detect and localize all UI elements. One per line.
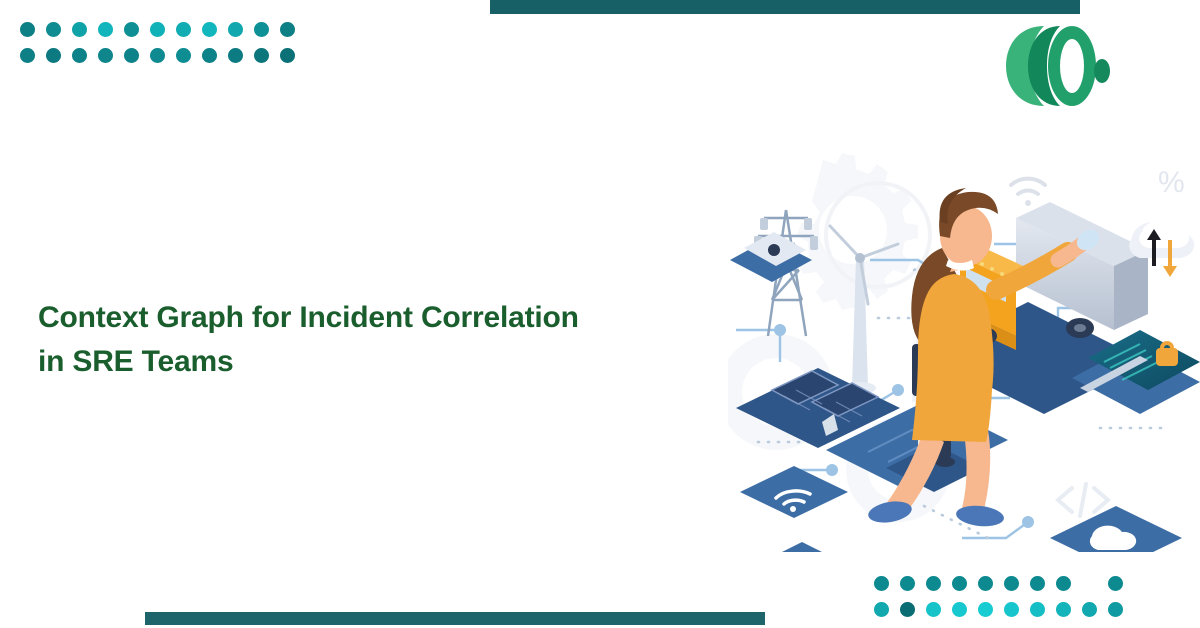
title-line-1: Context Graph for Incident Correlation — [38, 301, 579, 334]
page-title-text: Context Graph for Incident Correlation i… — [38, 296, 688, 383]
top-accent-bar — [490, 0, 1080, 14]
bottom-right-dot-1-8 — [1082, 602, 1097, 617]
top-left-dot-1-7 — [202, 48, 217, 63]
bottom-right-dot-1-4 — [978, 602, 993, 617]
wifi-signal-icon — [1011, 179, 1045, 206]
bottom-accent-bar — [145, 612, 765, 625]
bottom-right-dot-1-1 — [900, 602, 915, 617]
bottom-right-dot-0-8 — [1082, 576, 1097, 591]
bottom-right-dot-0-0 — [874, 576, 889, 591]
bottom-right-dot-1-3 — [952, 602, 967, 617]
bottom-right-dot-1-5 — [1004, 602, 1019, 617]
top-left-dot-0-5 — [150, 22, 165, 37]
code-brackets-icon — [1058, 484, 1108, 516]
bottom-right-dot-0-3 — [952, 576, 967, 591]
top-left-dot-0-2 — [72, 22, 87, 37]
bottom-right-dot-1-2 — [926, 602, 941, 617]
top-left-dot-0-4 — [124, 22, 139, 37]
device-tile-top-left — [730, 232, 812, 282]
bottom-right-dot-1-9 — [1108, 602, 1123, 617]
top-left-dot-1-9 — [254, 48, 269, 63]
top-left-dot-1-0 — [20, 48, 35, 63]
bottom-right-dot-0-9 — [1108, 576, 1123, 591]
percent-icon: % — [1158, 166, 1185, 199]
dot-grid-top-left — [20, 22, 306, 74]
hero-illustration: % — [728, 140, 1200, 552]
top-left-dot-0-1 — [46, 22, 61, 37]
top-left-dot-0-7 — [202, 22, 217, 37]
top-left-dot-0-0 — [20, 22, 35, 37]
bottom-right-dot-0-4 — [978, 576, 993, 591]
top-left-dot-0-6 — [176, 22, 191, 37]
poster-canvas: Context Graph for Incident Correlation i… — [0, 0, 1200, 628]
brand-logo[interactable] — [1002, 22, 1112, 110]
svg-text:%: % — [1158, 166, 1185, 199]
top-left-dot-0-9 — [254, 22, 269, 37]
top-left-dot-1-6 — [176, 48, 191, 63]
bottom-right-dot-1-6 — [1030, 602, 1045, 617]
bottom-right-dot-0-2 — [926, 576, 941, 591]
top-left-dot-1-5 — [150, 48, 165, 63]
top-left-dot-0-8 — [228, 22, 243, 37]
bottom-right-dot-1-7 — [1056, 602, 1071, 617]
title-line-2: in SRE Teams — [38, 345, 233, 378]
top-left-dot-1-10 — [280, 48, 295, 63]
top-left-dot-1-2 — [72, 48, 87, 63]
top-left-dot-1-3 — [98, 48, 113, 63]
bottom-right-dot-1-0 — [874, 602, 889, 617]
bottom-right-dot-0-6 — [1030, 576, 1045, 591]
top-left-dot-1-8 — [228, 48, 243, 63]
concentric-rings-icon — [1006, 26, 1110, 106]
bottom-right-dot-0-1 — [900, 576, 915, 591]
top-left-dot-0-3 — [98, 22, 113, 37]
top-left-dot-0-10 — [280, 22, 295, 37]
dot-grid-bottom-right — [874, 576, 1134, 628]
top-left-dot-1-1 — [46, 48, 61, 63]
cloud-rain-tile-icon — [1050, 506, 1182, 552]
bottom-right-dot-0-5 — [1004, 576, 1019, 591]
bottom-right-dot-0-7 — [1056, 576, 1071, 591]
top-left-dot-1-4 — [124, 48, 139, 63]
robotic-arm-icon — [746, 542, 858, 552]
page-title: Context Graph for Incident Correlation i… — [38, 296, 688, 383]
